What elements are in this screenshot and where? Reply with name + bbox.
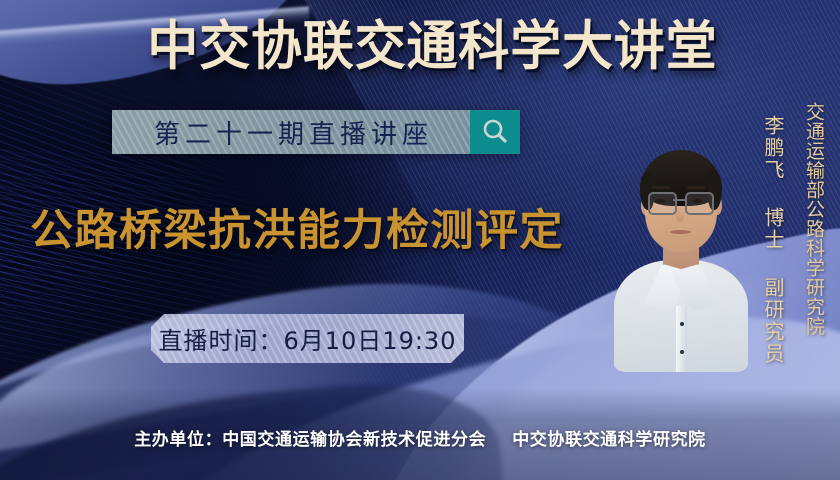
portrait-eye-right bbox=[692, 199, 702, 203]
live-lecture-poster: 中交协联交通科学大讲堂 第二十一期直播讲座 公路桥梁抗洪能力检测评定 直播时间：… bbox=[0, 0, 840, 480]
episode-banner-label: 第二十一期直播讲座 bbox=[149, 114, 433, 151]
footer-prefix: 主办单位： bbox=[134, 425, 222, 450]
portrait-shirt-placket bbox=[676, 306, 687, 372]
portrait-nose bbox=[676, 208, 684, 222]
portrait-glasses-lens-left bbox=[648, 192, 677, 215]
speaker-name-title: 李鹏飞 博士 副研究员 bbox=[759, 115, 788, 365]
page-title: 中交协联交通科学大讲堂 bbox=[17, 17, 823, 77]
episode-banner-body: 第二十一期直播讲座 bbox=[112, 110, 470, 154]
speaker-portrait bbox=[612, 120, 750, 372]
broadcast-time-plate: 直播时间：6月10日19:30 bbox=[151, 314, 464, 363]
portrait-eyebrow-right bbox=[687, 186, 705, 189]
footer-organizer-1: 中国交通运输协会新技术促进分会 bbox=[222, 425, 486, 450]
portrait-eye-left bbox=[655, 199, 665, 203]
lecture-headline: 公路桥梁抗洪能力检测评定 bbox=[30, 204, 564, 258]
portrait-shirt-button bbox=[680, 322, 684, 326]
portrait-glasses-lens-right bbox=[685, 192, 714, 215]
search-icon bbox=[470, 110, 520, 154]
footer-organizers: 主办单位：中国交通运输协会新技术促进分会中交协联交通科学研究院 bbox=[0, 425, 840, 450]
portrait-shirt-button bbox=[680, 350, 684, 354]
portrait-mouth bbox=[670, 230, 691, 234]
broadcast-time-text: 直播时间：6月10日19:30 bbox=[159, 321, 457, 356]
episode-banner: 第二十一期直播讲座 bbox=[112, 110, 520, 154]
speaker-organization: 交通运输部公路科学研究院 bbox=[801, 102, 828, 336]
portrait-glasses-bridge bbox=[673, 199, 685, 201]
footer-organizer-2: 中交协联交通科学研究院 bbox=[512, 425, 706, 450]
portrait-eyebrow-left bbox=[652, 186, 670, 189]
